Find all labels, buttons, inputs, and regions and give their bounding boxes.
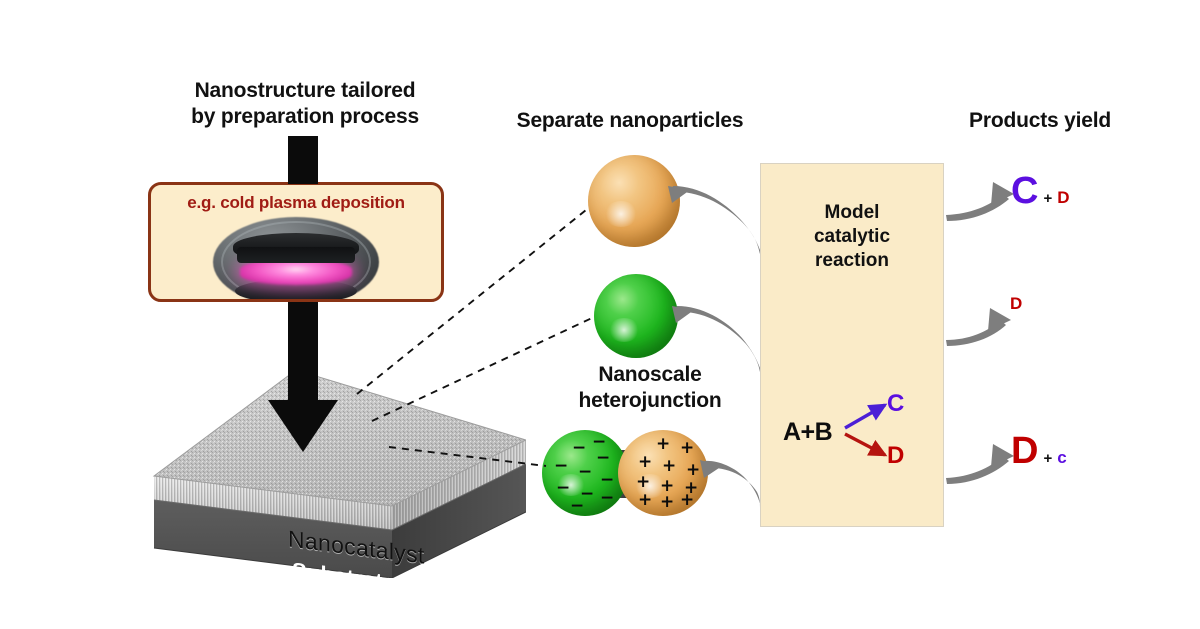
equation-arrows (783, 392, 933, 472)
charge-negative: − (554, 458, 568, 475)
charge-positive: + (636, 474, 650, 491)
reaction-equation: A+B C D (783, 392, 933, 472)
product-row-3: D + c (1011, 432, 1067, 470)
charge-positive: + (660, 494, 674, 511)
charge-positive: + (638, 454, 652, 471)
nanoparticle-green[interactable] (594, 274, 678, 358)
charge-negative: − (570, 498, 584, 515)
charge-negative: − (600, 472, 614, 489)
heading-nanoscale-heterojunction: Nanoscale heterojunction (540, 362, 760, 414)
arrow-to-product-d (845, 434, 885, 455)
product-row-2: D (1010, 295, 1022, 312)
nanoparticle-orange[interactable] (588, 155, 680, 247)
arrow-to-product-c (845, 405, 885, 428)
equation-product-c: C (887, 390, 904, 418)
heading-preparation: Nanostructure tailored by preparation pr… (140, 78, 470, 130)
model-catalytic-reaction-box[interactable]: Model catalytic reaction A+B C D (760, 163, 944, 527)
arrow-out-product-2 (946, 320, 1006, 346)
product-major-label: D (1010, 295, 1022, 312)
plasma-card-caption: e.g. cold plasma deposition (151, 193, 441, 213)
charge-positive: + (686, 462, 700, 479)
flow-connectors-out (946, 182, 1014, 484)
arrow-out-product-3 (946, 456, 1009, 484)
arrow-out-product-1 (946, 194, 1009, 221)
connector-hetero-to-box (704, 461, 760, 508)
connector-orange-to-box (672, 186, 760, 254)
charge-positive: + (656, 436, 670, 453)
cold-plasma-reactor-photo (213, 217, 379, 302)
heading-products-yield: Products yield (900, 108, 1180, 134)
product-major-label: D (1011, 432, 1038, 470)
sphere-highlight (608, 318, 640, 342)
charge-negative: − (578, 464, 592, 481)
charge-negative: − (592, 434, 606, 451)
product-minor-label: c (1057, 448, 1066, 468)
equation-product-d: D (887, 442, 904, 470)
charge-positive: + (680, 440, 694, 457)
plasma-deposition-card[interactable]: e.g. cold plasma deposition (148, 182, 444, 302)
charge-positive: + (638, 492, 652, 509)
charge-negative: − (596, 450, 610, 467)
reactor-upper-electrode-edge (237, 247, 355, 263)
charge-negative: − (572, 440, 586, 457)
figure-canvas: Nanostructure tailored by preparation pr… (0, 0, 1200, 629)
deposition-arrow-shaft-top (288, 136, 318, 184)
nanoscale-heterojunction[interactable]: − − − − − − − − − − + + + + + + + + + + … (542, 428, 708, 518)
sphere-highlight (604, 201, 638, 227)
charge-positive: + (662, 458, 676, 475)
heading-separate-nanoparticles: Separate nanoparticles (470, 108, 790, 134)
product-minor-label: D (1057, 188, 1069, 208)
product-plus-sign: + (1043, 190, 1052, 207)
reaction-box-title: Model catalytic reaction (761, 201, 943, 273)
charge-negative: − (556, 480, 570, 497)
arrowhead-product-2 (988, 308, 1011, 331)
product-plus-sign: + (1043, 450, 1052, 467)
substrate-block: Nanocatalyst Substrate (96, 348, 526, 578)
product-row-1: C + D (1011, 172, 1070, 210)
product-major-label: C (1011, 172, 1038, 210)
charge-positive: + (680, 492, 694, 509)
charge-negative: − (600, 490, 614, 507)
